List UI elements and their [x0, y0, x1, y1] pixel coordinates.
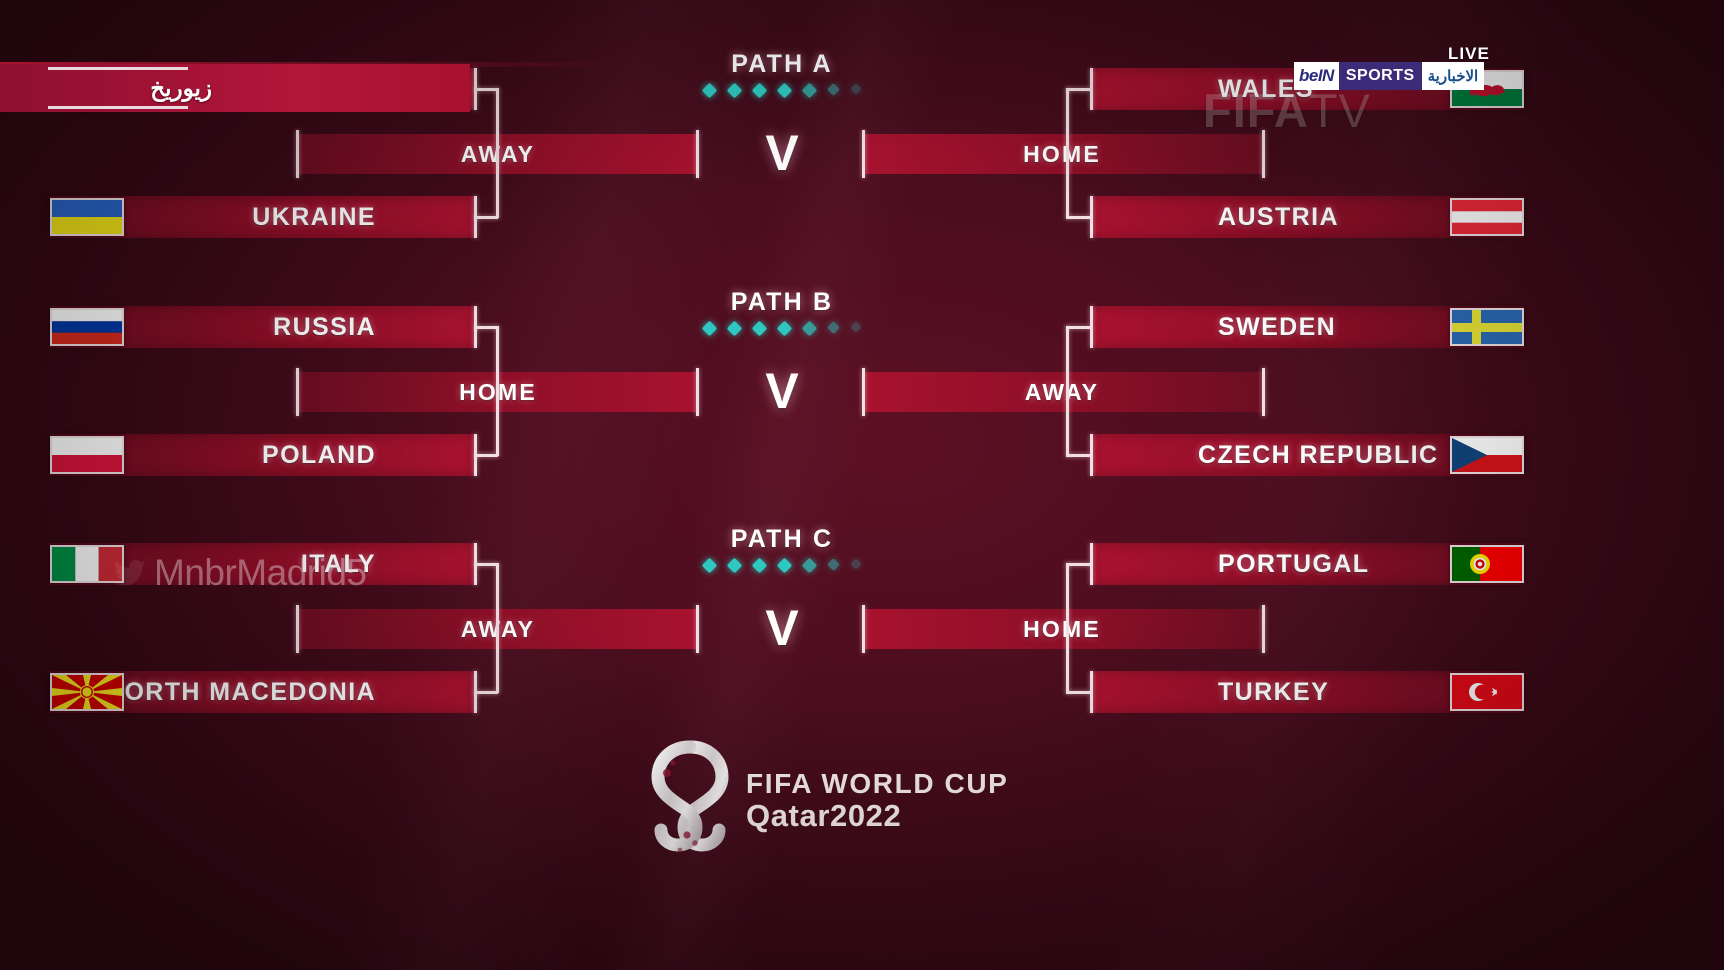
bracket-line [296, 605, 299, 653]
designation-bar-right-c: HOME [862, 609, 1262, 649]
bracket-line [474, 326, 498, 329]
bracket-line [1066, 88, 1090, 91]
path-label: PATH B [632, 288, 932, 317]
diamond-dot-icon [727, 558, 743, 574]
bracket-line [1066, 326, 1069, 456]
diamond-dot-icon [777, 321, 793, 337]
path-dots [632, 323, 932, 334]
russia-flag [50, 308, 124, 346]
qatar-2022-emblem-icon [640, 737, 740, 865]
path-header-b: PATH B [632, 288, 932, 334]
team-name: PORTUGAL [1218, 550, 1369, 579]
bracket-line [1066, 216, 1090, 219]
diamond-dot-icon [702, 558, 718, 574]
designation-bar-right-a: HOME [862, 134, 1262, 174]
bracket-line [296, 368, 299, 416]
versus-label-a: V [722, 124, 842, 182]
ticker-rule [48, 106, 188, 109]
team-name: POLAND [262, 441, 376, 470]
fifa-watermark-thin: TV [1309, 84, 1371, 137]
designation-label: HOME [1023, 616, 1101, 643]
bracket-line [496, 326, 499, 456]
world-cup-logo: FIFA WORLD CUP Qatar2022 [640, 736, 1100, 866]
twitter-bird-icon [110, 556, 150, 590]
fifa-watermark-bold: FIFA [1203, 84, 1309, 137]
ticker-text: زيوريخ [150, 75, 470, 102]
bracket-line [1090, 434, 1093, 476]
portugal-flag [1450, 545, 1524, 583]
bracket-line [474, 434, 477, 476]
diamond-dot-icon [802, 558, 818, 574]
bracket-line [496, 88, 499, 218]
wordmark-line-1: FIFA WORLD CUP [746, 768, 1008, 799]
bracket-line [696, 605, 699, 653]
diamond-dot-icon [702, 321, 718, 337]
team-name: UKRAINE [252, 203, 376, 232]
bracket-line [296, 130, 299, 178]
fifa-tv-watermark: FIFATV [1203, 83, 1371, 138]
diamond-dot-icon [850, 321, 861, 332]
bracket-line [1090, 196, 1093, 238]
ticker-rule [48, 67, 188, 70]
diamond-dot-icon [777, 83, 793, 99]
bracket-line [474, 88, 498, 91]
bracket-line [696, 130, 699, 178]
bracket-line [1262, 368, 1265, 416]
bracket-line [1090, 671, 1093, 713]
wordmark-line-2: Qatar2022 [746, 799, 1008, 834]
designation-bar-right-b: AWAY [862, 372, 1262, 412]
bracket-line [1090, 68, 1093, 110]
team-name: SWEDEN [1218, 313, 1336, 342]
bracket-line [474, 691, 498, 694]
bracket-line [474, 563, 498, 566]
diamond-dot-icon [727, 83, 743, 99]
diamond-dot-icon [752, 558, 768, 574]
team-name: CZECH REPUBLIC [1198, 441, 1438, 470]
designation-label: AWAY [1025, 379, 1099, 406]
poland-flag [50, 436, 124, 474]
live-badge: LIVE [1448, 44, 1490, 64]
arabic-ticker-bar: زيوريخ [0, 64, 470, 112]
diamond-dot-icon [752, 321, 768, 337]
diamond-dot-icon [850, 83, 861, 94]
user-watermark-text: MnbrMadrid5 [154, 552, 366, 594]
diamond-dot-icon [727, 321, 743, 337]
team-name: RUSSIA [273, 313, 376, 342]
diamond-dot-icon [777, 558, 793, 574]
czech-republic-flag [1450, 436, 1524, 474]
team-name: TURKEY [1218, 678, 1329, 707]
team-name: NORTH MACEDONIA [105, 678, 376, 707]
bracket-line [496, 563, 499, 693]
bracket-line [474, 196, 477, 238]
bracket-line [1066, 691, 1090, 694]
path-dots [632, 85, 932, 96]
north-macedonia-flag [50, 673, 124, 711]
versus-label-c: V [722, 599, 842, 657]
diamond-dot-icon [752, 83, 768, 99]
diamond-dot-icon [827, 558, 840, 571]
sweden-flag [1450, 308, 1524, 346]
bracket-line [1090, 543, 1093, 585]
user-watermark: MnbrMadrid5 [110, 552, 366, 594]
team-name: AUSTRIA [1218, 203, 1339, 232]
world-cup-wordmark: FIFA WORLD CUP Qatar2022 [746, 768, 1008, 834]
versus-label-b: V [722, 362, 842, 420]
path-header-c: PATH C [632, 525, 932, 571]
diamond-dot-icon [802, 321, 818, 337]
bracket-line [1066, 454, 1090, 457]
diamond-dot-icon [702, 83, 718, 99]
designation-label: HOME [1023, 141, 1101, 168]
bracket-line [1066, 563, 1069, 693]
ukraine-flag [50, 198, 124, 236]
bracket-line [862, 130, 865, 178]
bracket-line [1066, 563, 1090, 566]
diamond-dot-icon [850, 558, 861, 569]
bracket-line [862, 605, 865, 653]
diamond-dot-icon [827, 321, 840, 334]
playoff-bracket-graphic: PATH A V SCOTLAND UKRAINE [0, 0, 1724, 970]
turkey-flag [1450, 673, 1524, 711]
bracket-line [696, 368, 699, 416]
path-dots [632, 560, 932, 571]
path-label: PATH C [632, 525, 932, 554]
diamond-dot-icon [802, 83, 818, 99]
bracket-line [1262, 605, 1265, 653]
bracket-line [1090, 306, 1093, 348]
bracket-line [1066, 88, 1069, 218]
bracket-line [474, 671, 477, 713]
diamond-dot-icon [827, 83, 840, 96]
austria-flag [1450, 198, 1524, 236]
path-header-a: PATH A [632, 50, 932, 96]
bracket-line [1066, 326, 1090, 329]
bracket-line [862, 368, 865, 416]
bracket-line [474, 216, 498, 219]
bracket-line [474, 454, 498, 457]
